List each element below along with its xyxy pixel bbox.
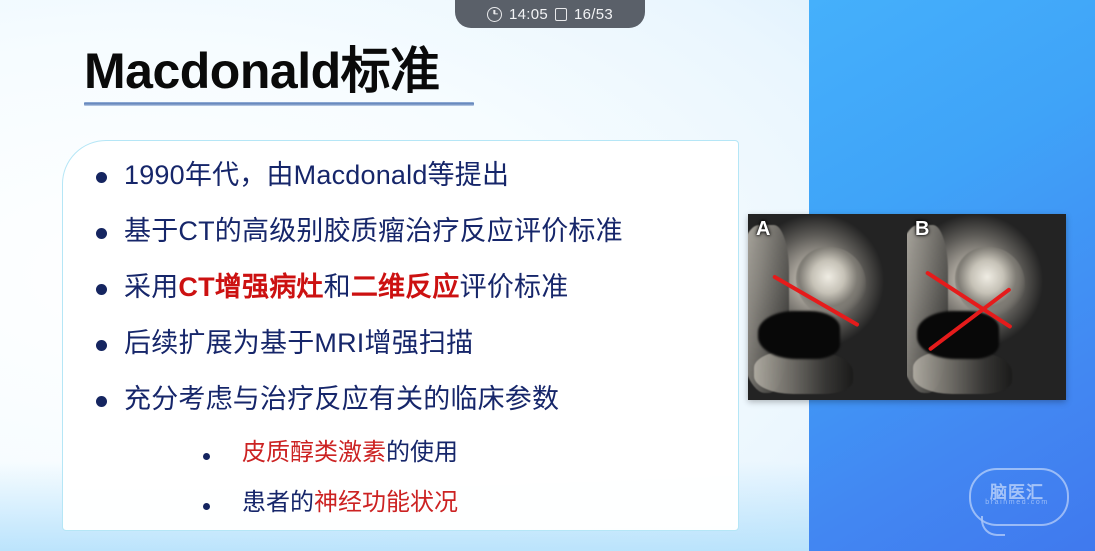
text-segment: 采用 bbox=[124, 272, 178, 302]
panel-b-label: B bbox=[915, 218, 929, 241]
current-time: 14:05 bbox=[509, 6, 548, 23]
sub-bullet-item-2: 患者的神经功能状况 bbox=[63, 485, 738, 531]
bullet-list: 1990年代，由Macdonald等提出基于CT的高级别胶质瘤治疗反应评价标准采… bbox=[63, 141, 738, 535]
slide-root: 14:05 16/53 Macdonald标准 1990年代，由Macdonal… bbox=[0, 0, 1095, 551]
text-segment: 和 bbox=[324, 272, 351, 302]
bullet-item-2: 基于CT的高级别胶质瘤治疗反应评价标准 bbox=[63, 211, 738, 261]
jaw-region-a bbox=[754, 350, 853, 395]
text-segment: 患者的 bbox=[242, 489, 314, 516]
text-segment: 皮质醇类激素 bbox=[242, 439, 386, 466]
bullet-item-3: 采用CT增强病灶和二维反应评价标准 bbox=[63, 267, 738, 317]
page-counter: 16/53 bbox=[574, 6, 613, 23]
bullet-text: 后续扩展为基于MRI增强扫描 bbox=[124, 323, 473, 365]
bullet-item-1: 1990年代，由Macdonald等提出 bbox=[63, 155, 738, 205]
lesion-region-b bbox=[955, 247, 1025, 318]
bullet-text: 基于CT的高级别胶质瘤治疗反应评价标准 bbox=[124, 211, 623, 253]
jaw-region-b bbox=[913, 350, 1012, 395]
sub-bullet-dot-icon bbox=[203, 453, 210, 460]
bullet-item-5: 充分考虑与治疗反应有关的临床参数 bbox=[63, 379, 738, 429]
text-segment: 二维反应 bbox=[351, 272, 460, 302]
medical-figure: A B bbox=[748, 214, 1066, 400]
text-segment: 的使用 bbox=[386, 439, 458, 466]
bullet-text: 1990年代，由Macdonald等提出 bbox=[124, 155, 509, 197]
text-segment: 1990年代，由Macdonald等提出 bbox=[124, 160, 509, 190]
text-segment: 基于CT的高级别胶质瘤治疗反应评价标准 bbox=[124, 216, 623, 246]
bullet-text: 充分考虑与治疗反应有关的临床参数 bbox=[124, 379, 559, 421]
figure-panel-b: B bbox=[907, 214, 1066, 400]
text-segment: 后续扩展为基于MRI增强扫描 bbox=[124, 328, 473, 358]
text-segment: 评价标准 bbox=[460, 272, 569, 302]
bullet-text: 采用CT增强病灶和二维反应评价标准 bbox=[124, 267, 568, 309]
panel-a-label: A bbox=[756, 218, 770, 241]
clock-icon bbox=[487, 7, 502, 22]
title-underline bbox=[84, 102, 474, 106]
page-title: Macdonald标准 bbox=[84, 44, 474, 98]
bullet-dot-icon bbox=[96, 396, 107, 407]
bullet-dot-icon bbox=[96, 284, 107, 295]
content-card: 1990年代，由Macdonald等提出基于CT的高级别胶质瘤治疗反应评价标准采… bbox=[62, 140, 739, 531]
sub-bullet-text: 患者的神经功能状况 bbox=[242, 485, 458, 521]
text-segment: CT增强病灶 bbox=[178, 272, 323, 302]
text-segment: 充分考虑与治疗反应有关的临床参数 bbox=[124, 384, 559, 414]
page-icon bbox=[555, 8, 567, 21]
sub-bullet-dot-icon bbox=[203, 503, 210, 510]
bullet-dot-icon bbox=[96, 228, 107, 239]
sub-bullet-text: 皮质醇类激素的使用 bbox=[242, 435, 458, 471]
text-segment: 神经功能状况 bbox=[314, 489, 458, 516]
figure-panel-a: A bbox=[748, 214, 907, 400]
bullet-item-4: 后续扩展为基于MRI增强扫描 bbox=[63, 323, 738, 373]
title-block: Macdonald标准 bbox=[84, 44, 474, 106]
bullet-dot-icon bbox=[96, 340, 107, 351]
sub-bullet-item-1: 皮质醇类激素的使用 bbox=[63, 435, 738, 481]
bullet-dot-icon bbox=[96, 172, 107, 183]
status-pill: 14:05 16/53 bbox=[455, 0, 645, 28]
